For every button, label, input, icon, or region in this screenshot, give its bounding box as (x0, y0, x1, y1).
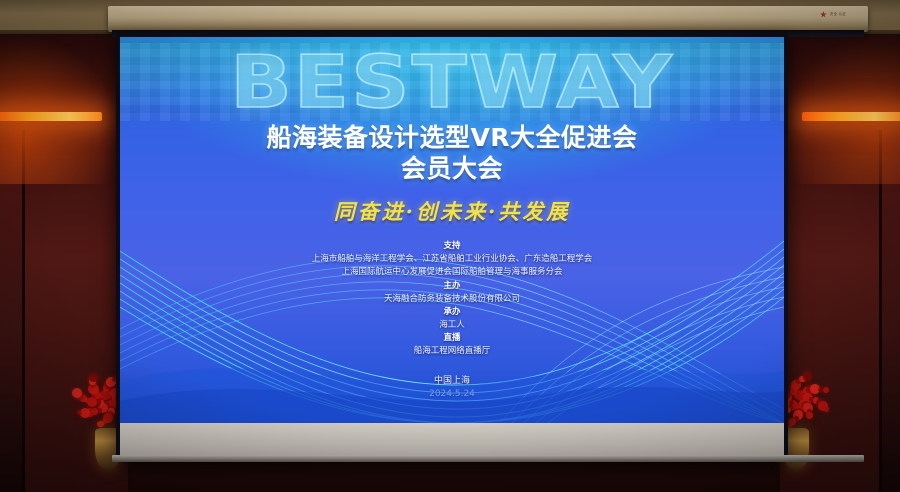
screen-blank-area (120, 423, 784, 459)
projection-screen: BESTWAY 船海装备设计选型VR大全促进会 会员大会 同奋进·创未来·共发展… (116, 34, 788, 459)
flower-bloom (803, 372, 811, 380)
certification-star-icon (820, 11, 827, 18)
wave-graphic (120, 233, 784, 423)
bestway-logo-band: BESTWAY (120, 43, 784, 121)
projector-screen-housing: 安全 认证 (108, 6, 868, 32)
flower-bloom (72, 388, 82, 398)
alcove-edge-right (879, 130, 882, 492)
bestway-logo-text: BESTWAY (230, 46, 674, 118)
flower-bloom (89, 374, 97, 382)
slide-title-line2: 会员大会 (120, 154, 784, 185)
slide-title-line1: 船海装备设计选型VR大全促进会 (120, 123, 784, 154)
screen-surface: BESTWAY 船海装备设计选型VR大全促进会 会员大会 同奋进·创未来·共发展… (120, 37, 784, 459)
flower-bloom (97, 421, 104, 428)
presentation-slide: BESTWAY 船海装备设计选型VR大全促进会 会员大会 同奋进·创未来·共发展… (120, 37, 784, 423)
slide-tagline: 同奋进·创未来·共发展 (120, 196, 784, 226)
housing-badge: 安全 认证 (820, 11, 846, 18)
alcove-edge-left (22, 130, 25, 492)
screen-bottom-bar (112, 455, 864, 462)
conference-room-photo: 安全 认证 BESTWAY 船海装备设计选型VR大全促进会 会员大会 同奋进·创… (0, 0, 900, 492)
housing-badge-label: 安全 认证 (830, 12, 846, 16)
flower-bloom (823, 387, 830, 394)
flower-bloom (824, 407, 829, 412)
flower-bloom (806, 412, 813, 419)
flower-bloom (77, 410, 82, 415)
cove-light-strip-left (0, 112, 102, 121)
cove-light-strip-right (802, 112, 900, 121)
